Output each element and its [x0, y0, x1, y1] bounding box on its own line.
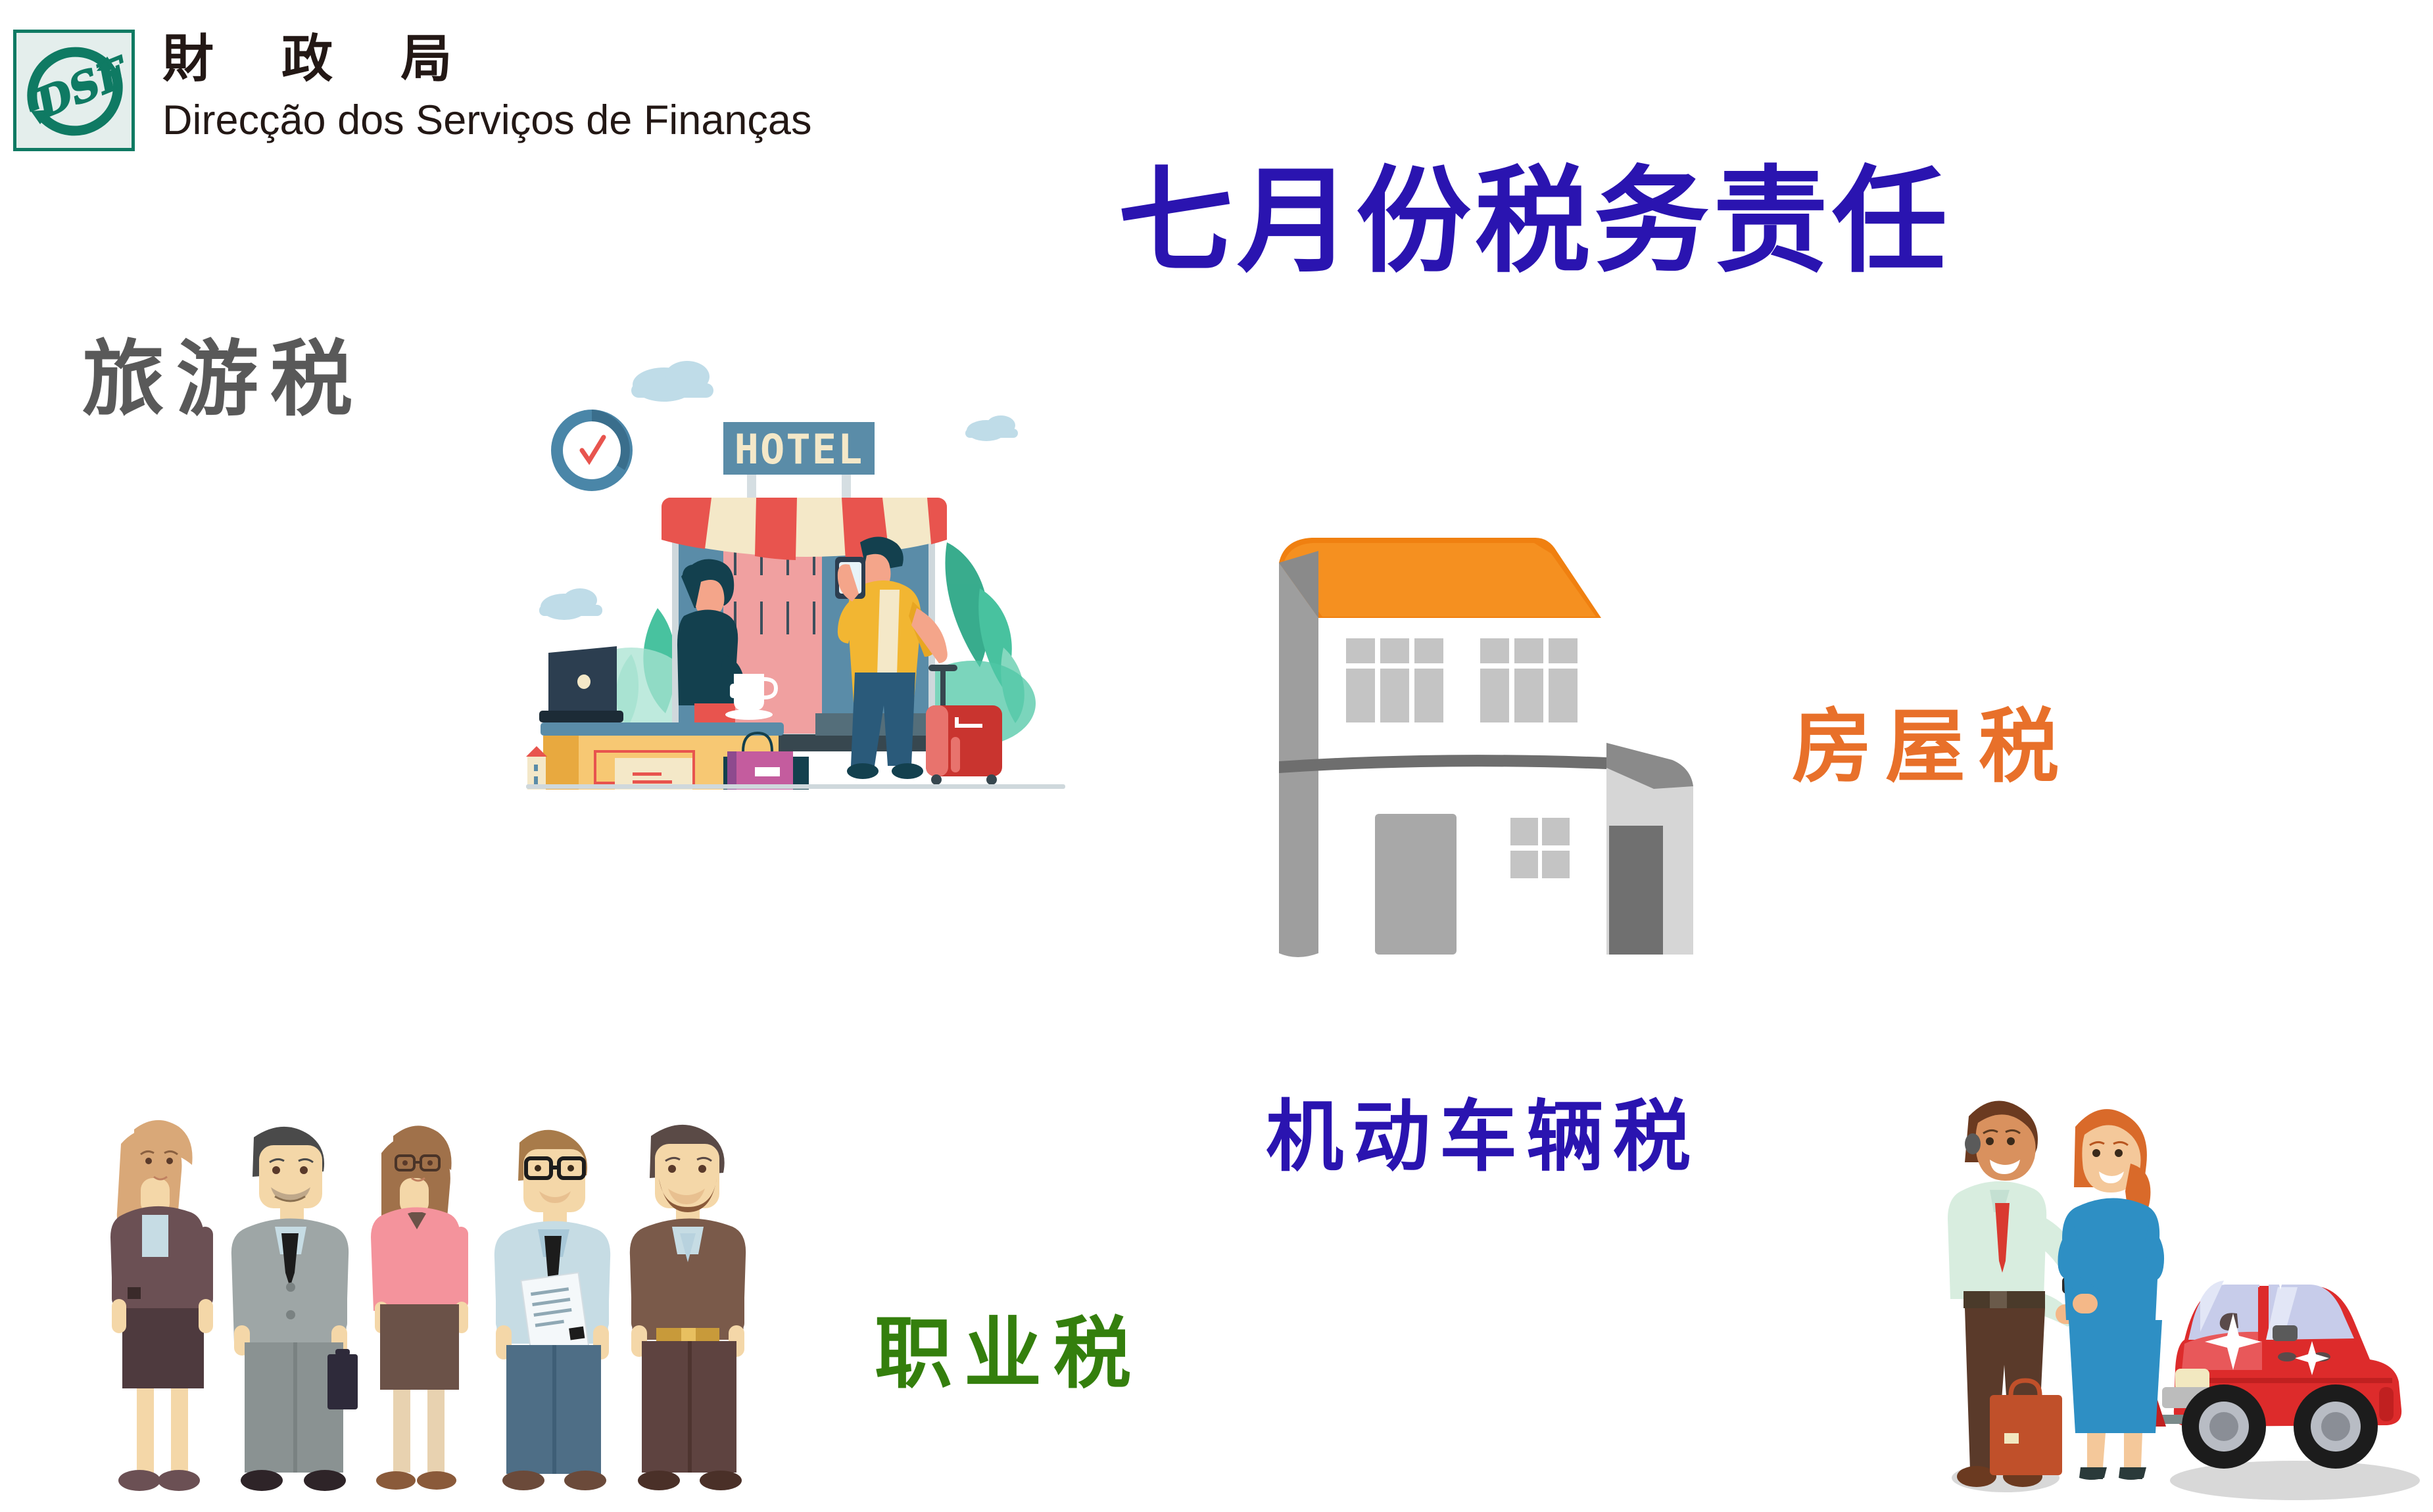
label-vehicle-tax: 机动车辆税 [1266, 1098, 1700, 1175]
person-figure [630, 1125, 746, 1490]
person-figure [371, 1125, 468, 1490]
laptop-icon [539, 646, 623, 722]
svg-text:HOTEL: HOTEL [735, 425, 864, 473]
person-figure [110, 1120, 213, 1491]
dsf-circular-arrow-logo: DSF [16, 33, 132, 148]
window-icon [1476, 634, 1581, 726]
document-icon [521, 1273, 589, 1356]
cloud-icon [631, 361, 713, 402]
window-icon [1506, 814, 1574, 882]
page-title: 七月份税务责任 [1118, 164, 1951, 279]
clock-check-icon [551, 410, 633, 491]
label-occupation-tax: 职业税 [875, 1315, 1143, 1392]
business-people-illustration [99, 1104, 861, 1512]
buyer-figure [2058, 1109, 2165, 1480]
org-name-cn: 財 政 局 [162, 34, 811, 85]
person-figure [231, 1127, 358, 1491]
dsf-logo-box: DSF [13, 30, 135, 151]
house-property-illustration [1259, 500, 1726, 980]
cloud-icon [539, 588, 602, 620]
org-name-pt: Direcção dos Serviços de Finanças [162, 97, 811, 144]
person-figure [494, 1130, 610, 1490]
cloud-icon [965, 415, 1018, 441]
label-tourism-tax: 旅游税 [82, 339, 364, 421]
hotel-sign: HOTEL [723, 422, 875, 500]
hotel-reception-illustration: HOTEL [526, 345, 1065, 789]
car-handover-illustration [1927, 1078, 2426, 1512]
label-property-tax: 房屋税 [1792, 707, 2072, 787]
org-text-block: 財 政 局 Direcção dos Serviços de Finanças [162, 30, 811, 144]
window-icon [1342, 634, 1447, 726]
header-logo-block: DSF 財 政 局 Direcção dos Serviços de Finan… [13, 30, 811, 151]
red-car [2149, 1250, 2401, 1469]
